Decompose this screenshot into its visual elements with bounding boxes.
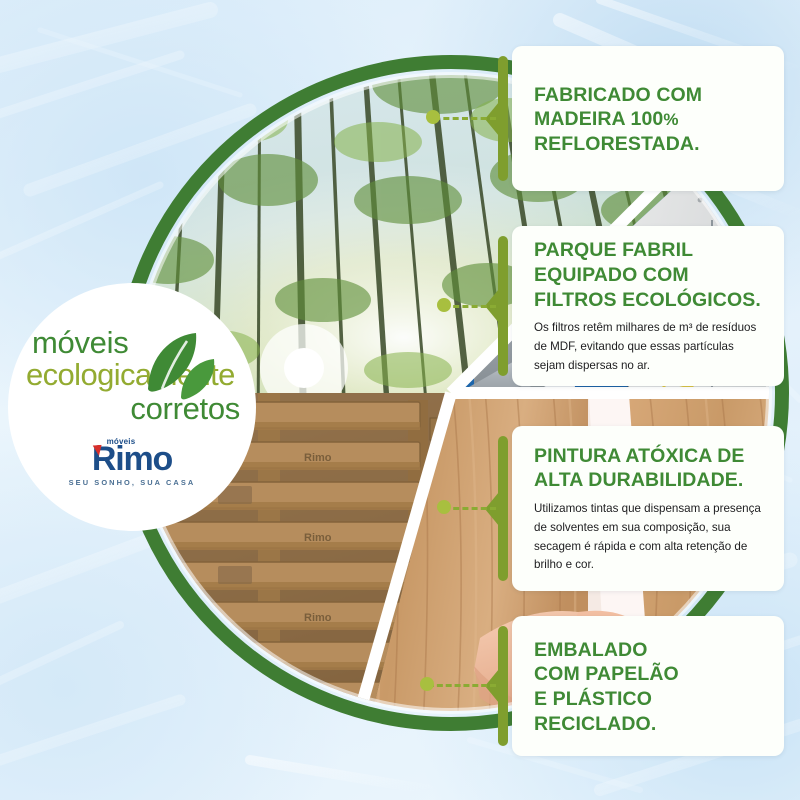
card-1-title-percent: %: [663, 110, 678, 129]
rimo-wordmark-text: Rimo: [92, 440, 172, 478]
card-1-title-line-2a: MADEIRA: [534, 108, 631, 130]
rimo-wordmark: Rimo: [67, 443, 197, 476]
card-4-title-line-1: EMBALADO: [534, 639, 647, 661]
card-4-title-line-2: COM PAPELÃO: [534, 663, 679, 685]
card-3-body: Utilizamos tintas que dispensam a presen…: [534, 500, 764, 575]
svg-text:Rimo: Rimo: [138, 572, 166, 584]
card-3-title: PINTURA ATÓXICA DE ALTA DURABILIDADE.: [534, 444, 764, 493]
card-1-title-line-3: REFLORESTADA.: [534, 133, 700, 155]
card-4-title-line-4: RECICLADO.: [534, 713, 656, 735]
card-4-title-line-3: E PLÁSTICO: [534, 688, 652, 710]
benefit-card-1[interactable]: FABRICADO COM MADEIRA 100% REFLORESTADA.: [512, 46, 784, 191]
card-2-title-line-1: PARQUE FABRIL: [534, 239, 693, 261]
card-3-title-line-2: ALTA DURABILIDADE.: [534, 469, 743, 491]
brand-badge: móveis ecologicamente corretos móveis Ri…: [8, 283, 256, 531]
svg-text:Rimo: Rimo: [138, 652, 166, 664]
card-accent-bar: [498, 236, 508, 376]
card-2-title: PARQUE FABRIL EQUIPADO COM FILTROS ECOLÓ…: [534, 238, 764, 312]
connector-line-2: [444, 305, 496, 308]
rimo-tagline: SEU SONHO, SUA CASA: [67, 478, 197, 487]
card-accent-bar: [498, 626, 508, 746]
card-2-title-line-2: EQUIPADO COM: [534, 264, 689, 286]
connector-line-3: [444, 507, 496, 510]
ring-dot-4: [420, 677, 434, 691]
ring-dot-3: [437, 500, 451, 514]
benefit-card-4[interactable]: EMBALADO COM PAPELÃO E PLÁSTICO RECICLAD…: [512, 616, 784, 756]
two-leaves-icon: [140, 331, 218, 401]
card-1-title-highlight: 100: [631, 108, 664, 130]
connector-line-4: [428, 684, 496, 687]
infographic-canvas: Rimo Rimo Rimo Rimo Rimo Rimo Rimo Rimo …: [0, 0, 800, 800]
ring-dot-2: [437, 298, 451, 312]
svg-text:Rimo: Rimo: [138, 732, 166, 736]
card-2-title-line-3: FILTROS ECOLÓGICOS.: [534, 289, 761, 311]
card-3-title-line-1: PINTURA ATÓXICA DE: [534, 445, 745, 467]
rimo-logo: móveis Rimo SEU SONHO, SUA CASA: [67, 437, 197, 487]
card-1-title: FABRICADO COM MADEIRA 100% REFLORESTADA.: [534, 83, 764, 157]
benefit-card-2[interactable]: PARQUE FABRIL EQUIPADO COM FILTROS ECOLÓ…: [512, 226, 784, 386]
card-accent-bar: [498, 56, 508, 181]
card-accent-bar: [498, 436, 508, 581]
connector-line-1: [434, 117, 496, 120]
card-2-body: Os filtros retêm milhares de m³ de resíd…: [534, 319, 764, 375]
ring-dot-1: [426, 110, 440, 124]
benefit-card-3[interactable]: PINTURA ATÓXICA DE ALTA DURABILIDADE. Ut…: [512, 426, 784, 591]
card-4-title: EMBALADO COM PAPELÃO E PLÁSTICO RECICLAD…: [534, 638, 764, 736]
card-1-title-line-1: FABRICADO COM: [534, 84, 702, 106]
